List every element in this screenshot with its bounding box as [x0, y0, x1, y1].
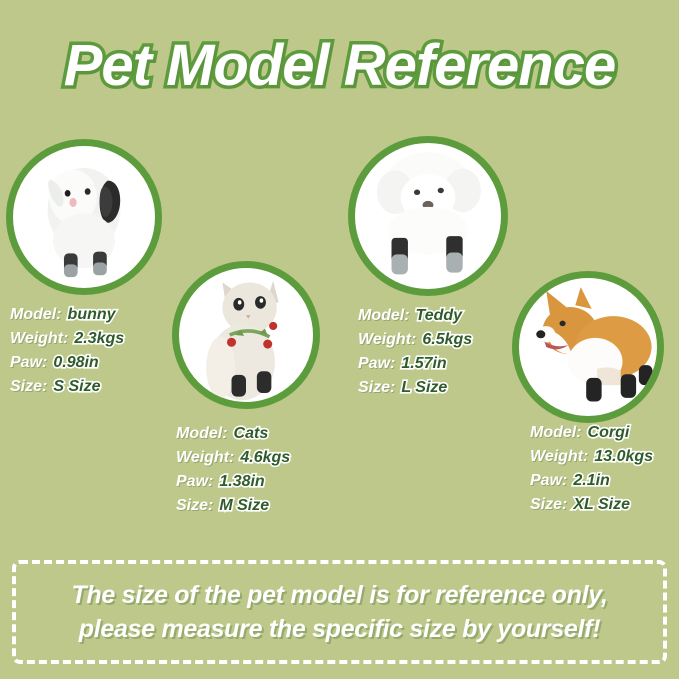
info-row-model: Model: Teddy: [358, 304, 472, 328]
weight-label: Weight:: [530, 445, 588, 469]
weight-value: 2.3kgs: [74, 327, 124, 351]
info-row-paw: Paw: 1.57in: [358, 352, 472, 376]
size-value: XL Size: [573, 493, 630, 517]
teddy-dog-illustration: [355, 143, 501, 289]
pet-info-bunny: Model: bunny Weight: 2.3kgs Paw: 0.98in …: [10, 303, 124, 399]
paw-value: 1.57in: [401, 352, 446, 376]
info-row-weight: Weight: 6.5kgs: [358, 328, 472, 352]
model-value: Teddy: [416, 304, 463, 328]
pet-photo-teddy: [348, 136, 508, 296]
size-label: Size:: [530, 493, 567, 517]
info-row-paw: Paw: 1.38in: [176, 470, 290, 494]
info-row-weight: Weight: 4.6kgs: [176, 446, 290, 470]
paw-value: 2.1in: [573, 469, 609, 493]
size-label: Size:: [358, 376, 395, 400]
info-row-weight: Weight: 2.3kgs: [10, 327, 124, 351]
disclaimer-banner: The size of the pet model is for referen…: [12, 560, 667, 664]
disclaimer-line-1: The size of the pet model is for referen…: [71, 578, 607, 612]
size-label: Size:: [176, 494, 213, 518]
model-value: Corgi: [588, 421, 630, 445]
info-row-size: Size: S Size: [10, 375, 124, 399]
model-label: Model:: [176, 422, 228, 446]
weight-label: Weight:: [10, 327, 68, 351]
weight-value: 13.0kgs: [594, 445, 653, 469]
paw-label: Paw:: [358, 352, 395, 376]
paw-label: Paw:: [176, 470, 213, 494]
weight-value: 6.5kgs: [422, 328, 472, 352]
pet-photo-corgi: [512, 271, 664, 423]
cat-illustration: [179, 268, 313, 402]
info-row-model: Model: Cats: [176, 422, 290, 446]
pet-photo-cat: [172, 261, 320, 409]
model-value: Cats: [234, 422, 269, 446]
pet-info-cat: Model: Cats Weight: 4.6kgs Paw: 1.38in S…: [176, 422, 290, 518]
size-value: M Size: [219, 494, 269, 518]
disclaimer-line-2: please measure the specific size by your…: [79, 612, 600, 646]
model-label: Model:: [530, 421, 582, 445]
bunny-illustration: [13, 146, 155, 288]
pet-model-reference-page: Pet Model Reference Model: bunny Weight:…: [0, 0, 679, 679]
info-row-weight: Weight: 13.0kgs: [530, 445, 653, 469]
info-row-model: Model: bunny: [10, 303, 124, 327]
model-value: bunny: [68, 303, 116, 327]
page-title: Pet Model Reference: [0, 34, 679, 98]
size-value: S Size: [53, 375, 100, 399]
size-value: L Size: [401, 376, 447, 400]
paw-value: 1.38in: [219, 470, 264, 494]
model-label: Model:: [10, 303, 62, 327]
info-row-paw: Paw: 0.98in: [10, 351, 124, 375]
pet-photo-bunny: [6, 139, 162, 295]
info-row-model: Model: Corgi: [530, 421, 653, 445]
info-row-size: Size: L Size: [358, 376, 472, 400]
weight-value: 4.6kgs: [240, 446, 290, 470]
paw-label: Paw:: [10, 351, 47, 375]
info-row-size: Size: XL Size: [530, 493, 653, 517]
info-row-size: Size: M Size: [176, 494, 290, 518]
paw-label: Paw:: [530, 469, 567, 493]
model-label: Model:: [358, 304, 410, 328]
pet-info-corgi: Model: Corgi Weight: 13.0kgs Paw: 2.1in …: [530, 421, 653, 517]
weight-label: Weight:: [176, 446, 234, 470]
size-label: Size:: [10, 375, 47, 399]
pet-info-teddy: Model: Teddy Weight: 6.5kgs Paw: 1.57in …: [358, 304, 472, 400]
corgi-illustration: [519, 278, 657, 416]
weight-label: Weight:: [358, 328, 416, 352]
info-row-paw: Paw: 2.1in: [530, 469, 653, 493]
paw-value: 0.98in: [53, 351, 98, 375]
